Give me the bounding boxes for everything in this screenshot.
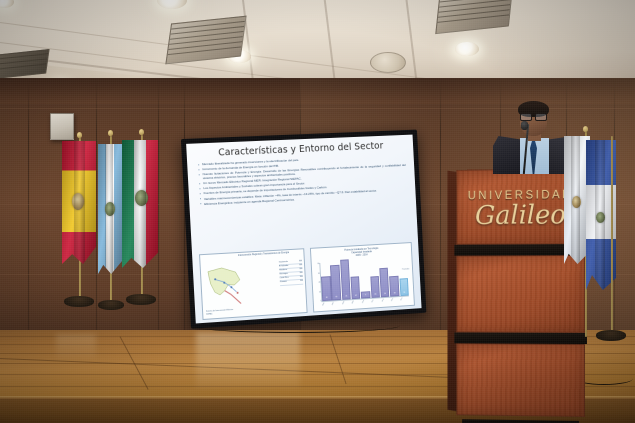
air-vent xyxy=(435,0,512,34)
podium-bottom-panel xyxy=(456,343,585,417)
map-chart-note: Sistema de Interconexión Eléctrica SIEPA… xyxy=(206,309,236,316)
legend-label: Costa Rica xyxy=(280,277,289,281)
bar: 56 xyxy=(379,267,389,297)
bar-chart-x-axis: 2006 2007 2008 2009 2010 2011 2012 2013 … xyxy=(321,297,409,309)
bar: 42 xyxy=(350,276,360,299)
legend-value: 300 xyxy=(299,260,302,263)
slide-bullet-list: Mercado liberalizado ha generado inversi… xyxy=(194,153,409,206)
ceiling-speaker xyxy=(370,52,406,73)
bar-highlight: 30 xyxy=(399,278,409,296)
spain-flag xyxy=(62,141,96,264)
bar-value: 66 xyxy=(333,296,340,298)
conference-hall-photo: Características y Entorno del Sector Mer… xyxy=(0,0,635,423)
mexico-flag xyxy=(122,140,158,268)
bar-value: 9 xyxy=(362,294,369,296)
legend-value: 300 xyxy=(300,276,303,279)
eyeglasses-icon xyxy=(520,113,547,119)
podium-side xyxy=(448,171,457,412)
bar: 44 xyxy=(321,277,331,302)
central-america-map xyxy=(206,263,251,307)
bar: 39 xyxy=(370,276,380,298)
bar-chart-title: Potencia Instalada por Tecnología Capaci… xyxy=(311,244,411,259)
legend-label: Panamá xyxy=(280,281,287,284)
screen-frame: Características y Entorno del Sector Mer… xyxy=(181,130,427,329)
regional-map-chart: Interconexión Regional y Transacciones d… xyxy=(199,248,308,320)
bar-value: 30 xyxy=(401,292,408,294)
bar-value: 38 xyxy=(391,292,398,294)
presentation-slide: Características y Entorno del Sector Mer… xyxy=(186,135,421,324)
bar-value: 44 xyxy=(323,297,330,299)
flagpole xyxy=(611,136,613,336)
flag-base xyxy=(126,294,156,305)
bar-chart-note: Promedio xyxy=(402,268,409,270)
bar: 76 xyxy=(340,260,351,300)
bar-value: 76 xyxy=(343,295,350,297)
bar-value: 39 xyxy=(372,294,379,296)
bar-value: 42 xyxy=(352,295,359,297)
capacity-bar-chart: Potencia Instalada por Tecnología Capaci… xyxy=(310,242,415,312)
ceiling-light xyxy=(157,0,187,9)
podium-middle-panel xyxy=(456,255,585,333)
legend-value: 300 xyxy=(299,268,302,271)
flag-base xyxy=(98,300,124,310)
legend-value: 300 xyxy=(300,272,303,275)
flag-base xyxy=(596,330,626,341)
guatemala-flag xyxy=(98,144,122,274)
bar-value: 56 xyxy=(381,293,388,295)
ceiling-light xyxy=(0,0,14,8)
air-vent xyxy=(165,16,246,65)
map-legend: Guatemala 300 El Salvador 300 Honduras 3… xyxy=(279,260,303,286)
bar: 38 xyxy=(389,275,399,296)
legend-value: 300 xyxy=(300,280,303,283)
podium-band xyxy=(454,332,587,344)
legend-value: 300 xyxy=(299,264,302,267)
legend-row: Panamá 300 xyxy=(280,280,303,285)
wall-speaker xyxy=(50,113,74,140)
microphone-icon xyxy=(521,121,528,130)
av-cable xyxy=(190,318,400,333)
podium-foot xyxy=(462,419,579,423)
projection-screen: Características y Entorno del Sector Mer… xyxy=(181,130,427,329)
map-chart-title: Interconexión Regional y Transacciones d… xyxy=(225,251,301,258)
ceiling-light xyxy=(455,42,479,56)
flag-base xyxy=(64,296,94,307)
slide-charts: Interconexión Regional y Transacciones d… xyxy=(199,242,415,320)
